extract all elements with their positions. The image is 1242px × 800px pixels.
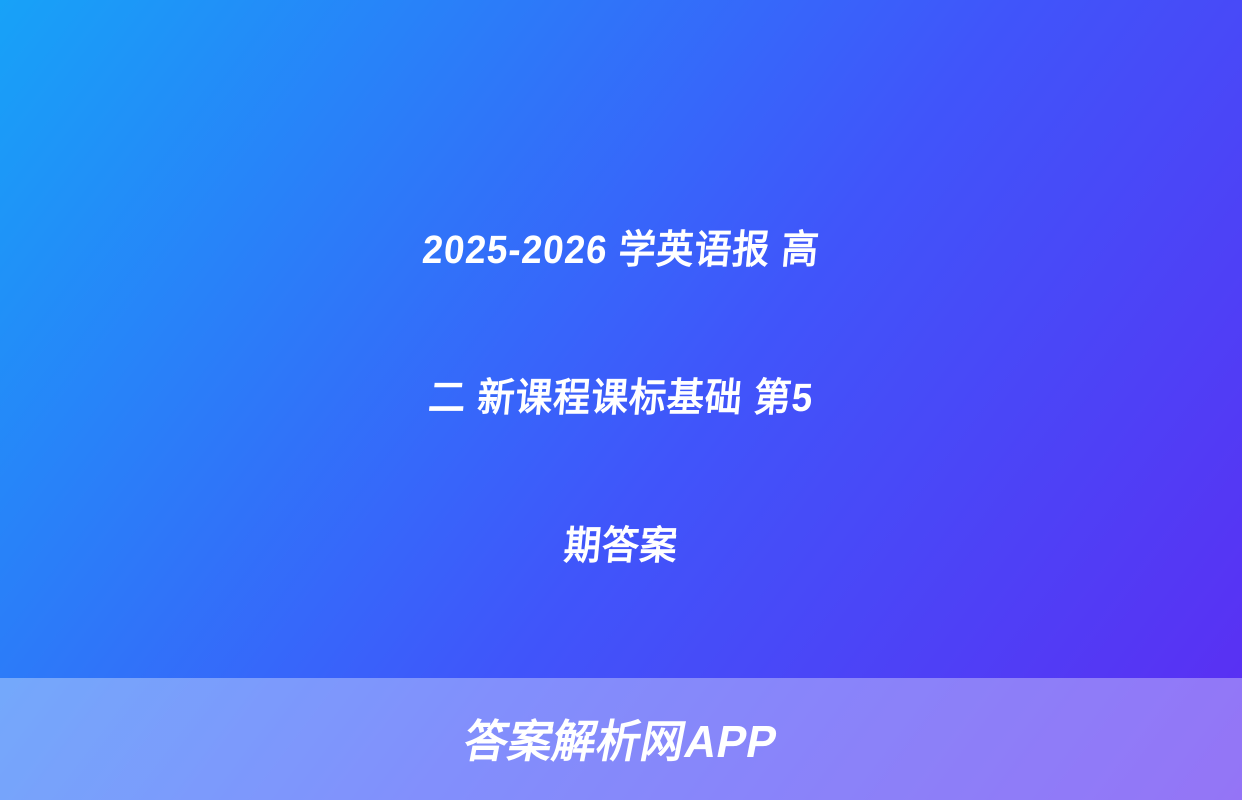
headline-line-1: 2025-2026 学英语报 高	[56, 176, 1186, 324]
app-brand-label: 答案解析网APP	[461, 719, 782, 764]
headline-line-2: 二 新课程课标基础 第5	[56, 324, 1186, 472]
headline-line-3: 期答案	[56, 472, 1186, 620]
poster-canvas: 2025-2026 学英语报 高 二 新课程课标基础 第5 期答案 答案解析网A…	[0, 0, 1242, 800]
page-title: 2025-2026 学英语报 高 二 新课程课标基础 第5 期答案	[0, 176, 1242, 620]
footer-brand-band: 答案解析网APP	[0, 678, 1242, 800]
